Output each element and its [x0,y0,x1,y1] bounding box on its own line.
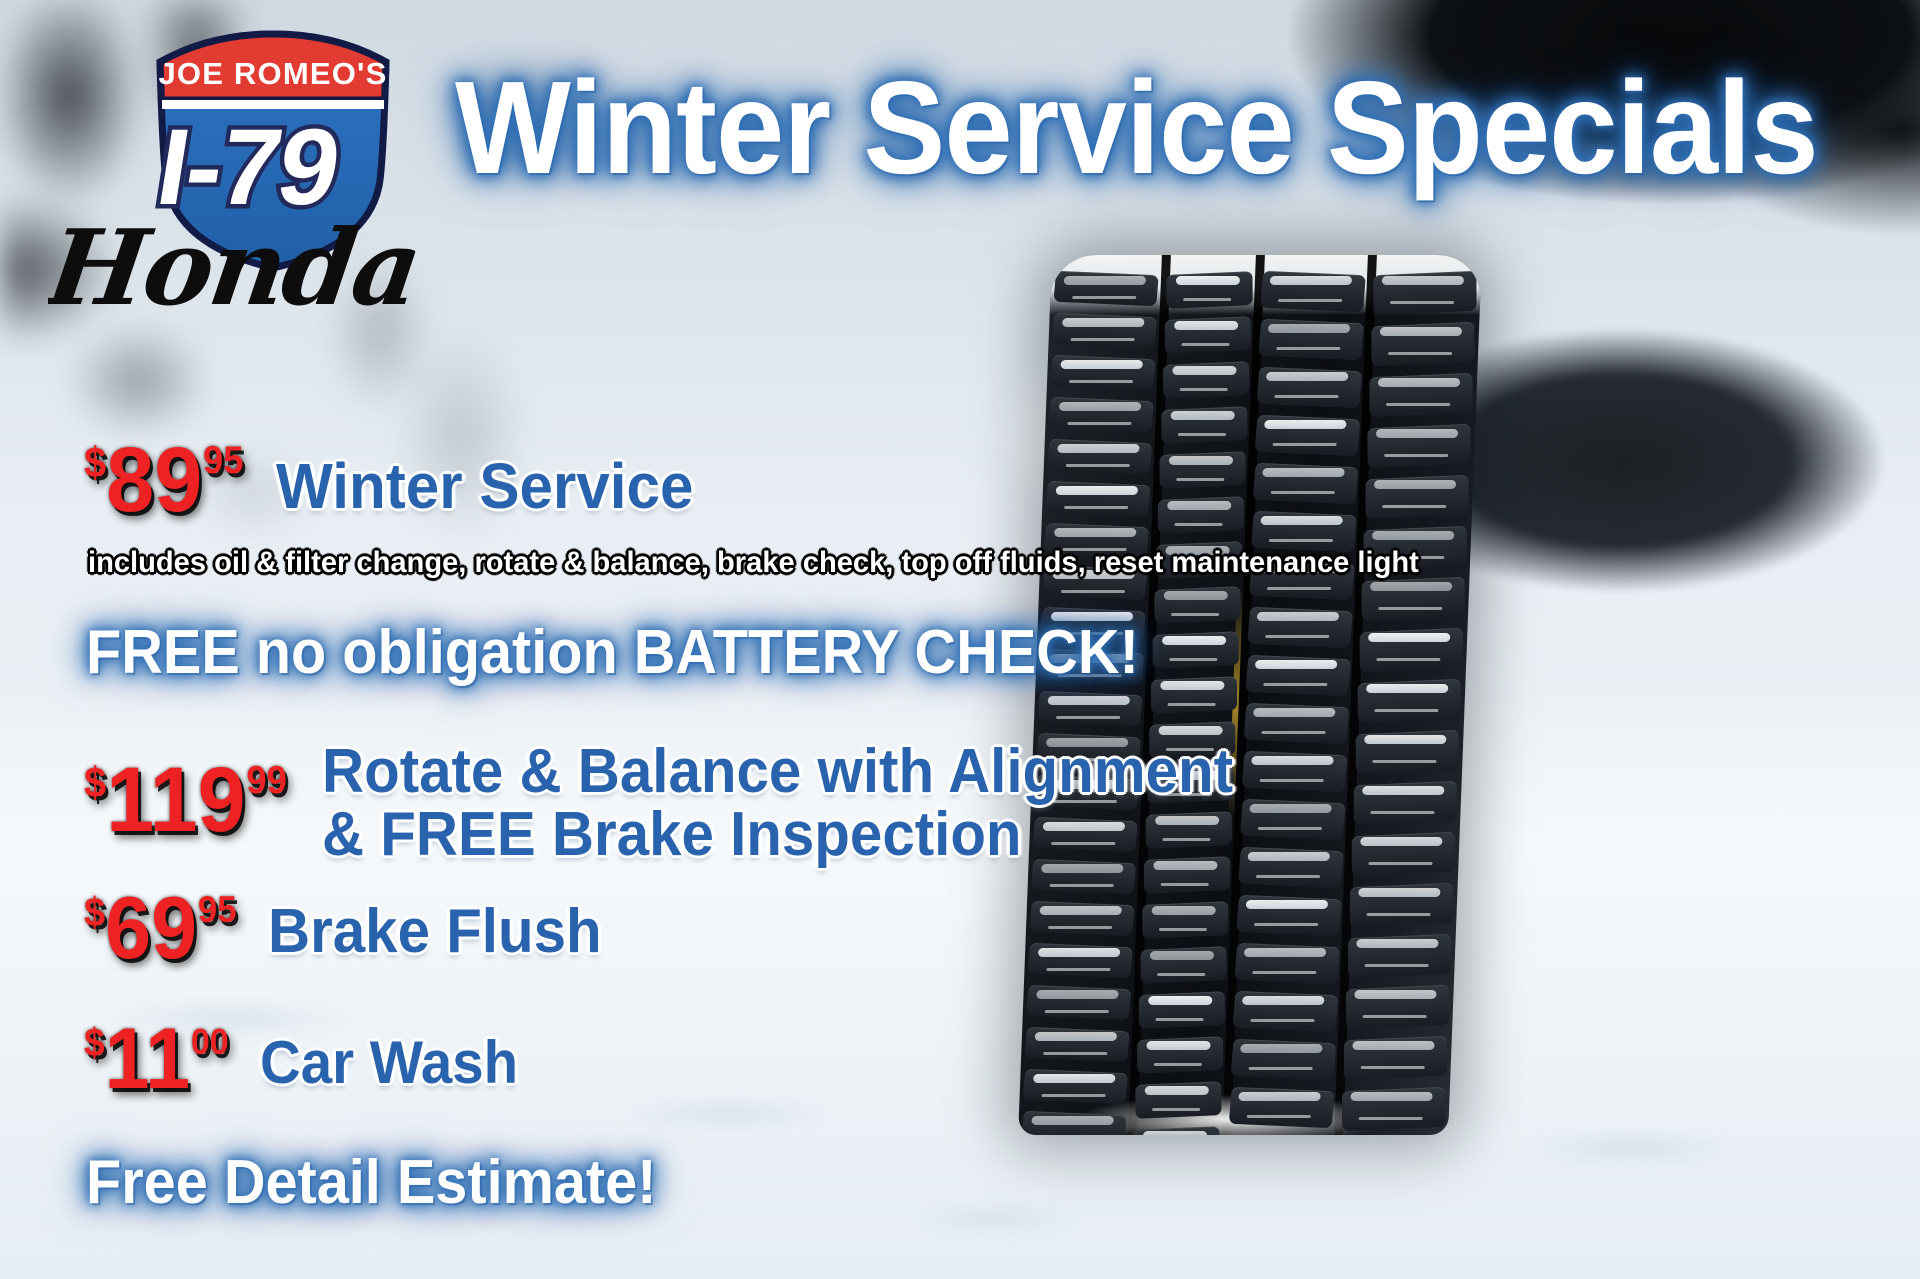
offer-label-brake-flush: Brake Flush [268,900,602,963]
offer-brake-flush: $ 69 95 Brake Flush [84,888,623,969]
price-whole: 119 [106,758,246,843]
offer-label-winter-service: Winter Service [276,454,693,519]
offer-fineprint-winter-service: includes oil & filter change, rotate & b… [88,548,1419,578]
offer-winter-service: $ 89 95 Winter Service [84,438,720,523]
price-cents: 95 [198,892,237,929]
offer-copy: Winter Service Specials $ 89 95 Winter S… [0,0,1920,1279]
offer-car-wash: $ 11 00 Car Wash [84,1020,534,1099]
offer-rotate-balance: $ 119 99 Rotate & Balance with Alignment… [84,740,1291,866]
price-currency: $ [84,442,106,484]
price-rotate-balance: $ 119 99 [84,758,287,843]
page-title: Winter Service Specials [455,62,1818,194]
price-cents: 00 [191,1024,229,1060]
price-currency: $ [84,892,105,932]
battery-check-line: FREE no obligation BATTERY CHECK! [86,622,1139,684]
offer-label-rotate-balance: Rotate & Balance with Alignment & FREE B… [322,740,1233,866]
price-cents: 99 [246,762,286,801]
price-currency: $ [84,1024,105,1064]
price-car-wash: $ 11 00 [84,1020,229,1099]
price-whole: 89 [106,438,202,523]
price-whole: 11 [105,1020,190,1099]
price-brake-flush: $ 69 95 [84,888,237,969]
price-cents: 95 [203,442,243,481]
free-detail-estimate-line: Free Detail Estimate! [86,1152,656,1214]
price-whole: 69 [105,888,197,969]
price-currency: $ [84,762,106,804]
price-winter-service: $ 89 95 [84,438,243,523]
winter-service-specials-ad: JOE ROMEO'S I-79 Honda Winter Service Sp… [0,0,1920,1279]
offer-label-car-wash: Car Wash [260,1032,518,1093]
